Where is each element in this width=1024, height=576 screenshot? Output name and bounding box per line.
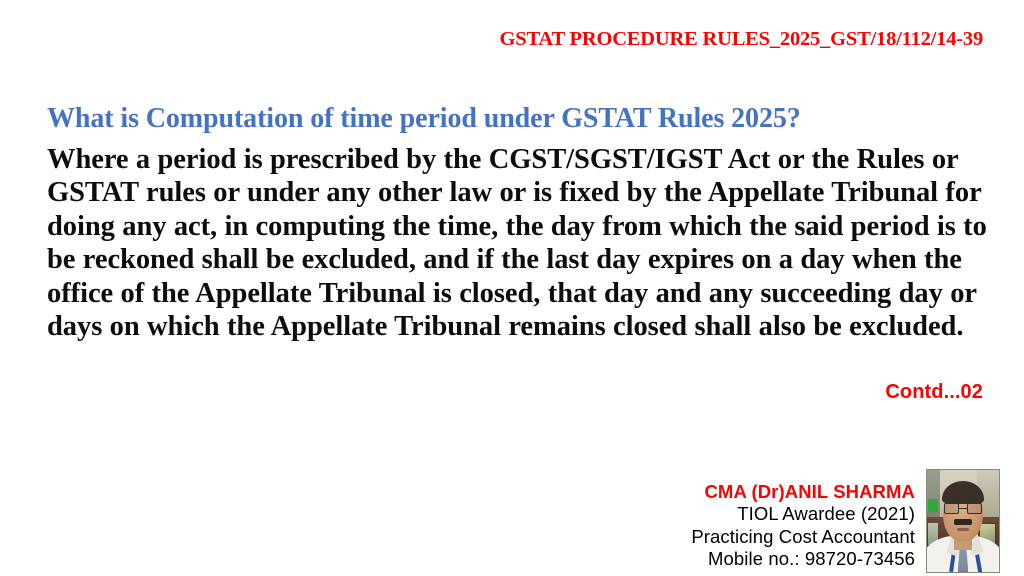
eyeglass-bridge — [959, 508, 967, 509]
portrait-scene — [927, 470, 999, 572]
portrait-mouth — [957, 528, 969, 531]
eyeglass-lens-right — [967, 503, 983, 514]
slide-header-reference: GSTAT PROCEDURE RULES_2025_GST/18/112/14… — [383, 28, 983, 51]
portrait-moustache — [954, 519, 973, 525]
eyeglasses-icon — [944, 503, 983, 514]
author-signature-block: CMA (Dr)ANIL SHARMA TIOL Awardee (2021) … — [560, 481, 915, 571]
author-portrait-photo — [926, 469, 1000, 573]
author-name: CMA (Dr)ANIL SHARMA — [560, 481, 915, 503]
eyeglass-lens-left — [944, 503, 960, 514]
slide-body-paragraph: Where a period is prescribed by the CGST… — [47, 143, 989, 343]
continuation-note: Contd...02 — [885, 381, 983, 404]
slide-question-heading: What is Computation of time period under… — [47, 103, 987, 135]
presentation-slide: GSTAT PROCEDURE RULES_2025_GST/18/112/14… — [0, 0, 1024, 576]
author-profession: Practicing Cost Accountant — [560, 526, 915, 549]
author-mobile: Mobile no.: 98720-73456 — [560, 548, 915, 571]
photo-background-green-sign — [928, 499, 937, 512]
author-award: TIOL Awardee (2021) — [560, 503, 915, 526]
